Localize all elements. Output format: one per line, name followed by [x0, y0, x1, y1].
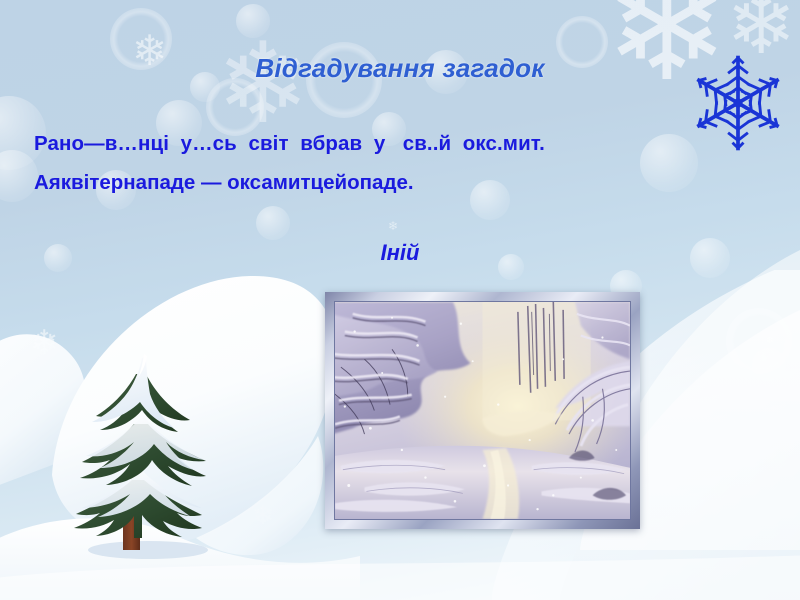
- winter-forest-photo: [334, 301, 631, 520]
- snowflake-icon: [683, 48, 793, 158]
- fir-tree-icon: [60, 352, 220, 567]
- bokeh-circle: [206, 78, 264, 136]
- snowflake-watermark-icon: ❄: [252, 502, 274, 528]
- riddle-line-2: Аяквітернападе — оксамитцейопаде.: [34, 173, 764, 194]
- bokeh-circle: [256, 206, 290, 240]
- snowflake-watermark-icon: ❄: [388, 220, 398, 232]
- snowflake-watermark-icon: ❄: [766, 336, 774, 345]
- snowflake-watermark-icon: ❄: [216, 28, 310, 140]
- bokeh-circle: [0, 150, 38, 202]
- riddle-answer: Іній: [0, 240, 800, 266]
- riddle-line-1: Рано—в…нці у…сь світ вбрав у св..й окс.м…: [34, 134, 764, 155]
- bokeh-circle: [236, 4, 270, 38]
- bokeh-circle: [752, 348, 786, 382]
- photo-frame[interactable]: [325, 292, 640, 529]
- bokeh-circle: [726, 308, 792, 374]
- riddle-text-block: Рано—в…нці у…сь світ вбрав у св..й окс.м…: [34, 134, 764, 211]
- page-title: Відгадування загадок: [0, 53, 800, 84]
- slide-canvas: ❄ ❄ ❄ ❄ ❄ ❄ ❄ ❄ ❄: [0, 0, 800, 600]
- snowflake-watermark-icon: ❄: [30, 326, 59, 360]
